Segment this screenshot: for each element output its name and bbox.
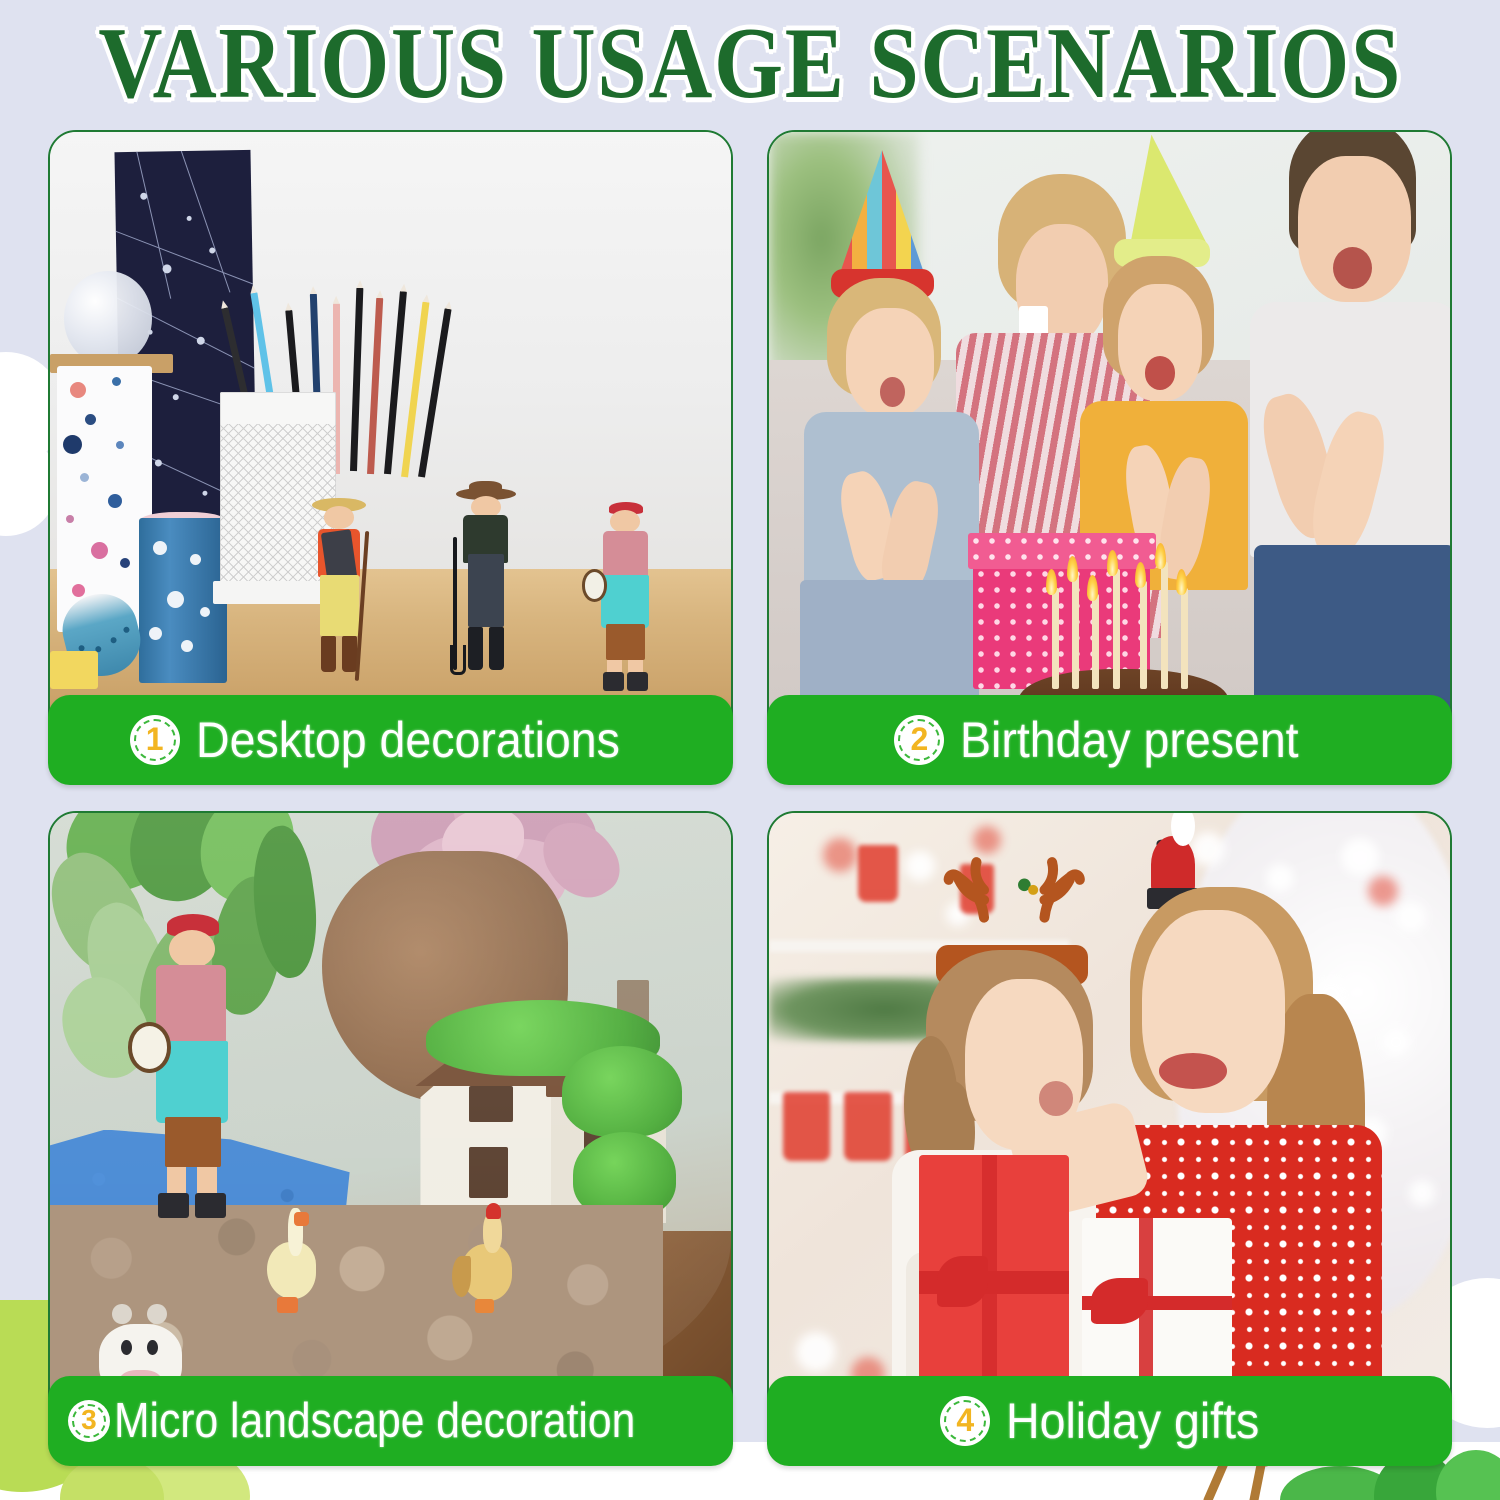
- scenario-photo-4: [767, 811, 1452, 1448]
- scenario-photo-2: [767, 130, 1452, 767]
- goose-figurine: [254, 1205, 322, 1319]
- terrarium-scene-photo: [50, 813, 731, 1446]
- christmas-scene-photo: [769, 813, 1450, 1446]
- page-title: VARIOUS USAGE SCENARIOS: [98, 12, 1402, 113]
- badge-number-4: 4: [940, 1396, 990, 1446]
- terrarium-figurine-woman: [139, 914, 248, 1231]
- scenario-panel-4[interactable]: 4 Holiday gifts: [767, 811, 1452, 1466]
- stocking-1: [783, 1092, 831, 1162]
- chicken-figurine: [452, 1205, 520, 1319]
- caption-label-1: Desktop decorations: [196, 715, 620, 765]
- badge-number-1-text: 1: [146, 723, 164, 755]
- caption-label-4: Holiday gifts: [1006, 1396, 1259, 1446]
- caption-label-3: Micro landscape decoration: [114, 1397, 635, 1446]
- caption-label-2: Birthday present: [960, 715, 1299, 765]
- badge-number-3: 3: [68, 1400, 110, 1442]
- badge-number-2: 2: [894, 715, 944, 765]
- person-father: [1246, 132, 1450, 727]
- birthday-scene-photo: [769, 132, 1450, 765]
- reindeer-antler-headband-icon: [926, 819, 1103, 956]
- caption-bar-2: 2 Birthday present: [767, 695, 1452, 785]
- person-boy: [796, 214, 987, 708]
- white-gift-box: [1082, 1218, 1232, 1395]
- scenario-panel-2[interactable]: 2 Birthday present: [767, 130, 1452, 785]
- figurine-woman: [588, 502, 663, 705]
- badge-number-2-text: 2: [911, 723, 929, 755]
- scenario-panel-3[interactable]: 3 Micro landscape decoration: [48, 811, 733, 1466]
- scenario-photo-1: [48, 130, 733, 767]
- usage-scenario-grid: 1 Desktop decorations: [48, 130, 1452, 1466]
- caption-bar-3: 3 Micro landscape decoration: [48, 1376, 733, 1466]
- badge-number-3-text: 3: [81, 1406, 97, 1434]
- badge-number-1: 1: [130, 715, 180, 765]
- caption-bar-1: 1 Desktop decorations: [48, 695, 733, 785]
- scenario-photo-3: [48, 811, 733, 1448]
- polka-dot-canister: [57, 366, 152, 632]
- badge-number-4-text: 4: [956, 1404, 974, 1436]
- desk-scene-photo: [50, 132, 731, 765]
- figurine-farmer: [448, 490, 523, 705]
- red-gift-box: [919, 1155, 1069, 1408]
- stocking-2: [844, 1092, 892, 1162]
- glass-globe-ornament: [64, 271, 153, 366]
- caption-bar-4: 4 Holiday gifts: [767, 1376, 1452, 1466]
- yellow-block: [50, 651, 98, 689]
- figurine-hunter: [302, 502, 377, 705]
- scenario-panel-1[interactable]: 1 Desktop decorations: [48, 130, 733, 785]
- page-title-container: VARIOUS USAGE SCENARIOS: [0, 0, 1500, 126]
